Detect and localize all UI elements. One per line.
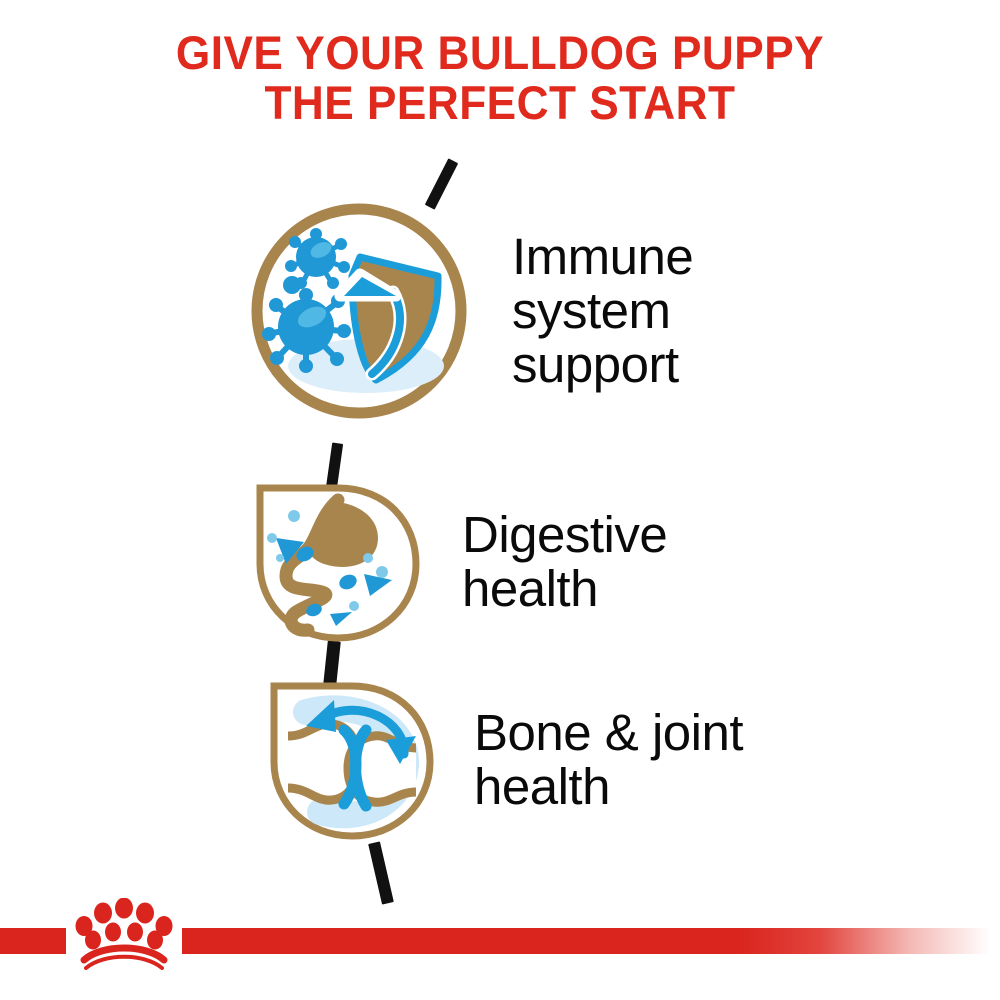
connector-dash-bottom	[368, 841, 394, 904]
page-title-line-2: THE PERFECT START	[30, 78, 970, 128]
page-title: GIVE YOUR BULLDOG PUPPY THE PERFECT STAR…	[0, 28, 1000, 128]
benefit-item-digestive: Digestive health	[252, 480, 667, 644]
benefit-item-bone-joint: Bone & joint health	[266, 678, 743, 842]
page-title-line-1: GIVE YOUR BULLDOG PUPPY	[30, 28, 970, 78]
immune-shield-virus-icon	[248, 200, 470, 422]
benefit-label-bone-joint: Bone & joint health	[474, 706, 743, 814]
bone-joint-arrow-icon	[266, 678, 438, 842]
benefit-item-immune: Immune system support	[248, 200, 693, 422]
royal-canin-crown-icon	[72, 898, 176, 970]
benefit-label-digestive: Digestive health	[462, 508, 667, 616]
benefit-label-immune: Immune system support	[512, 230, 693, 392]
digestive-stomach-intestine-icon	[252, 480, 424, 644]
